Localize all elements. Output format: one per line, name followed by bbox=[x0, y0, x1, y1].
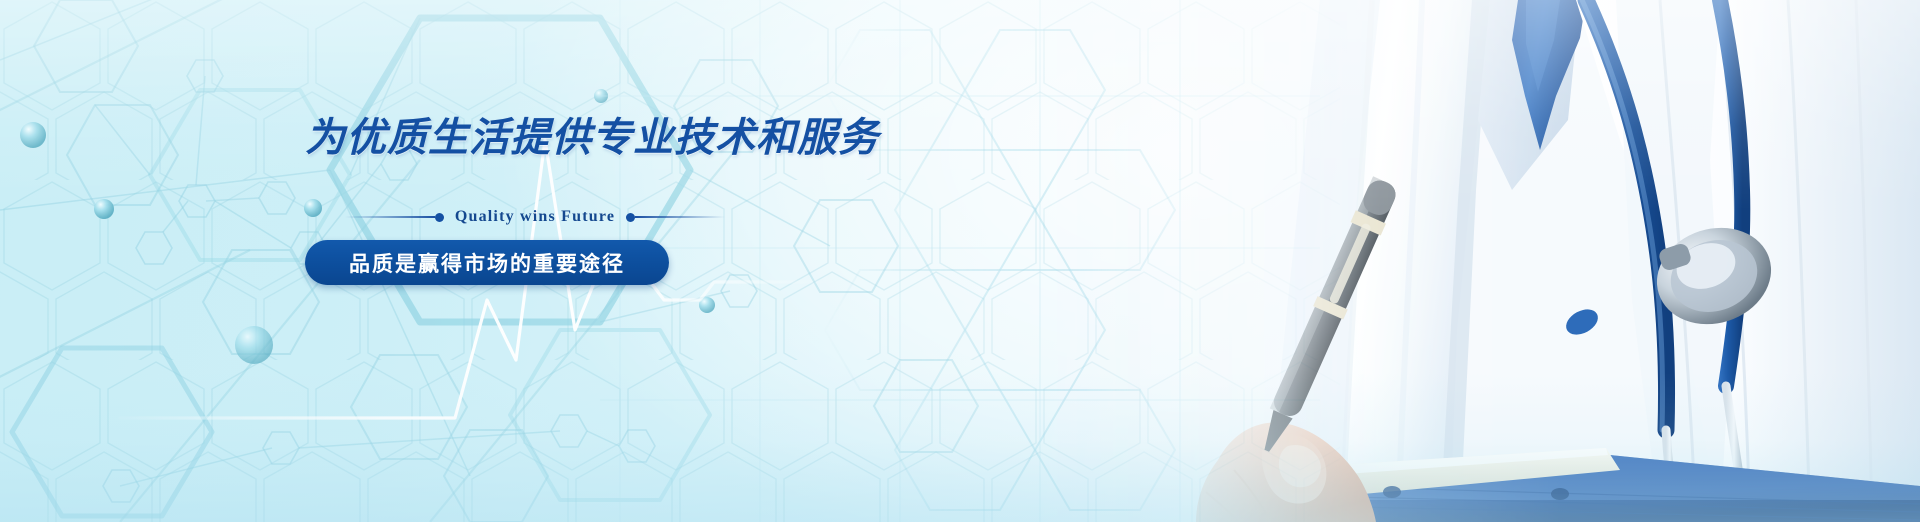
bullet-dot-icon-left bbox=[435, 213, 444, 222]
tagline-rule-left bbox=[345, 216, 435, 218]
cta-button[interactable]: 品质是赢得市场的重要途径 bbox=[305, 240, 669, 285]
banner-tagline: Quality wins Future bbox=[444, 208, 626, 226]
banner-headline: 为优质生活提供专业技术和服务 bbox=[305, 118, 1025, 158]
banner-content: 为优质生活提供专业技术和服务 Quality wins Future 品质是赢得… bbox=[305, 118, 1025, 285]
bottom-fade-overlay bbox=[0, 372, 1920, 522]
hero-banner: 为优质生活提供专业技术和服务 Quality wins Future 品质是赢得… bbox=[0, 0, 1920, 522]
tagline-rule-right bbox=[635, 216, 725, 218]
bullet-dot-icon-right bbox=[626, 213, 635, 222]
tagline-divider: Quality wins Future bbox=[345, 208, 725, 226]
